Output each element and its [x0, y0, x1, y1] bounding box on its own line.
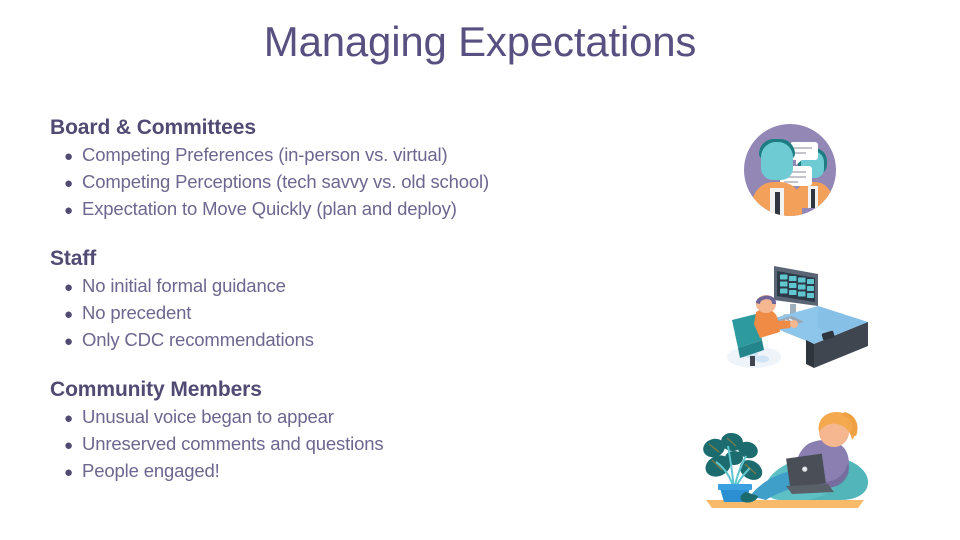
- list-item: ● Competing Preferences (in-person vs. v…: [50, 142, 690, 169]
- person-b-tie: [811, 189, 815, 208]
- beanbag-illustration-svg: [688, 396, 880, 514]
- two-people-talking-icon: [744, 124, 836, 216]
- list-item: ● Unreserved comments and questions: [50, 431, 690, 458]
- bullet-dot-icon: ●: [50, 144, 82, 169]
- person-at-desk-video-call-icon: [722, 262, 870, 370]
- list-item: ● Only CDC recommendations: [50, 327, 690, 354]
- desk-illustration-svg: [722, 262, 870, 370]
- bullet-text: Unreserved comments and questions: [82, 431, 690, 456]
- bullet-text: Expectation to Move Quickly (plan and de…: [82, 196, 690, 221]
- section-staff: Staff ● No initial formal guidance ● No …: [50, 247, 690, 354]
- bullet-dot-icon: ●: [50, 329, 82, 354]
- bullet-list: ● No initial formal guidance ● No preced…: [50, 273, 690, 354]
- bullet-dot-icon: ●: [50, 198, 82, 223]
- bullet-dot-icon: ●: [50, 433, 82, 458]
- section-board-committees: Board & Committees ● Competing Preferenc…: [50, 116, 690, 223]
- bullet-dot-icon: ●: [50, 406, 82, 431]
- section-community-members: Community Members ● Unusual voice began …: [50, 378, 690, 485]
- bullet-text: Competing Preferences (in-person vs. vir…: [82, 142, 690, 167]
- list-item: ● No initial formal guidance: [50, 273, 690, 300]
- person-on-beanbag-with-laptop-icon: [688, 396, 880, 514]
- bullet-text: Unusual voice began to appear: [82, 404, 690, 429]
- bullet-dot-icon: ●: [50, 275, 82, 300]
- list-item: ● Unusual voice began to appear: [50, 404, 690, 431]
- list-item: ● Competing Perceptions (tech savvy vs. …: [50, 169, 690, 196]
- bullet-list: ● Competing Preferences (in-person vs. v…: [50, 142, 690, 223]
- bullet-text: No initial formal guidance: [82, 273, 690, 298]
- list-item: ● No precedent: [50, 300, 690, 327]
- bullet-text: Competing Perceptions (tech savvy vs. ol…: [82, 169, 690, 194]
- section-heading: Staff: [50, 247, 690, 271]
- bullet-text: No precedent: [82, 300, 690, 325]
- bullet-text: Only CDC recommendations: [82, 327, 690, 352]
- bullet-list: ● Unusual voice began to appear ● Unrese…: [50, 404, 690, 485]
- section-heading: Community Members: [50, 378, 690, 402]
- content-body: Board & Committees ● Competing Preferenc…: [50, 116, 690, 485]
- bullet-dot-icon: ●: [50, 302, 82, 327]
- person-a-head: [761, 142, 793, 180]
- list-item: ● People engaged!: [50, 458, 690, 485]
- section-heading: Board & Committees: [50, 116, 690, 140]
- page-title: Managing Expectations: [0, 18, 960, 66]
- slide-canvas: Managing Expectations Board & Committees…: [0, 0, 960, 540]
- bullet-dot-icon: ●: [50, 460, 82, 485]
- bullet-dot-icon: ●: [50, 171, 82, 196]
- person-a-tie: [775, 192, 780, 216]
- bullet-text: People engaged!: [82, 458, 690, 483]
- list-item: ● Expectation to Move Quickly (plan and …: [50, 196, 690, 223]
